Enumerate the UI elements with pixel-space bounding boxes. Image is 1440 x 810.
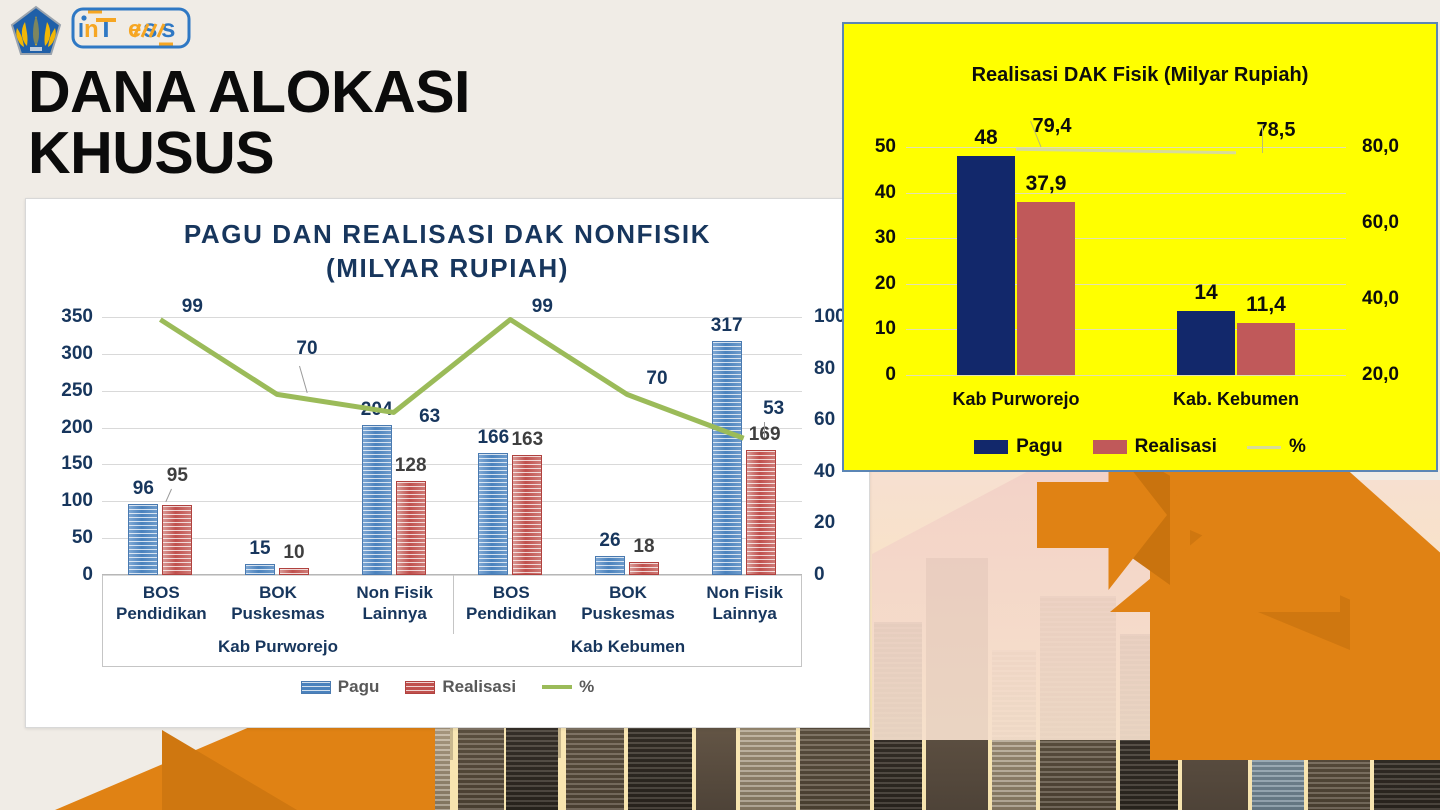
category-label-line: BOS [451,583,571,604]
percent-value-label: 99 [182,296,203,318]
slide-canvas: n e T s s DANA ALOKASI KHUSUS PAGU DAN R… [0,0,1440,810]
category-label-line: BOS [101,583,221,604]
legend-item: % [542,677,594,697]
legend-item: Pagu [301,677,380,697]
svg-text:e: e [128,16,141,43]
chart-title: PAGU DAN REALISASI DAK NONFISIK (MILYAR … [26,217,869,286]
category-label-line: Pendidikan [451,604,571,625]
legend-swatch-realisasi [1093,440,1127,454]
y-axis-tick: 50 [72,527,93,549]
leader-line [1262,125,1263,153]
legend-item: Realisasi [1093,436,1217,458]
y-axis-tick: 350 [61,306,93,328]
yellow-chart-title: Realisasi DAK Fisik (Milyar Rupiah) [844,64,1436,87]
y2-axis-tick: 100 [814,306,846,328]
category-label: Kab. Kebumen [1173,389,1299,410]
category-label-line: BOK [568,583,688,604]
y-axis-tick: 0 [885,364,896,386]
y2-axis-tick: 20,0 [1362,364,1399,386]
category-label-line: Non Fisik [685,583,805,604]
legend-swatch-realisasi [405,681,435,694]
legend-label: Realisasi [1135,436,1217,458]
percent-value-label: 70 [646,368,667,390]
group-label: Kab Kebumen [571,637,685,657]
kemenkeu-emblem-icon [8,4,64,60]
svg-text:T: T [98,13,114,43]
percent-value-label: 70 [296,338,317,360]
dak-nonfisik-chart-card: PAGU DAN REALISASI DAK NONFISIK (MILYAR … [25,198,870,728]
y-axis-tick: 0 [82,564,93,586]
category-label-line: Puskesmas [218,604,338,625]
y-axis-tick: 100 [61,490,93,512]
legend-label: Pagu [338,677,380,697]
y-axis-tick: 30 [875,227,896,249]
legend-swatch-pagu [974,440,1008,454]
percent-value-label: 63 [419,406,440,428]
y-axis-tick: 200 [61,417,93,439]
legend-label: % [579,677,594,697]
y2-axis-tick: 80 [814,358,835,380]
legend-item: Realisasi [405,677,516,697]
y-axis-tick: 10 [875,318,896,340]
chart-title-line1: PAGU DAN REALISASI DAK NONFISIK [26,217,869,251]
category-label: BOKPuskesmas [218,583,338,624]
percent-value-label: 99 [532,296,553,318]
intress-logo: n e T s s [70,6,192,50]
gridline [906,375,1346,376]
group-label: Kab Purworejo [218,637,338,657]
category-label: BOSPendidikan [451,583,571,624]
category-label-line: Non Fisik [335,583,455,604]
plot-area: 0501001502002503003500204060801009695151… [102,317,802,575]
percent-value-label: 79,4 [1033,115,1072,138]
y-axis-tick: 50 [875,136,896,158]
category-label: Kab Purworejo [952,389,1079,410]
y2-axis-tick: 60,0 [1362,212,1399,234]
leader-line [764,422,765,438]
percent-line-series [906,147,1346,375]
legend-label: Pagu [1016,436,1062,458]
y2-axis-tick: 0 [814,564,825,586]
y2-axis-tick: 80,0 [1362,136,1399,158]
legend-swatch-pagu [301,681,331,694]
dak-fisik-chart-card: Realisasi DAK Fisik (Milyar Rupiah) 0102… [842,22,1438,472]
category-label-line: Pendidikan [101,604,221,625]
page-title: DANA ALOKASI KHUSUS [28,62,728,184]
y-axis-tick: 40 [875,182,896,204]
category-label-line: BOK [218,583,338,604]
category-label: BOKPuskesmas [568,583,688,624]
percent-line-series [102,317,802,575]
chart-title-line2: (MILYAR RUPIAH) [26,251,869,285]
legend-line-percent [542,685,572,689]
legend-item: Pagu [974,436,1062,458]
y2-axis-tick: 40,0 [1362,288,1399,310]
y-axis-tick: 250 [61,380,93,402]
category-label-line: Lainnya [685,604,805,625]
yellow-chart-legend: PaguRealisasi% [844,436,1436,458]
category-band: BOSPendidikanBOKPuskesmasNon FisikLainny… [102,575,802,667]
yellow-plot-area: 0102030405020,040,060,080,04837,9Kab Pur… [906,147,1346,375]
y-axis-tick: 150 [61,453,93,475]
category-label: BOSPendidikan [101,583,221,624]
legend-line-percent [1247,446,1281,449]
category-label-line: Lainnya [335,604,455,625]
category-label-line: Puskesmas [568,604,688,625]
percent-value-label: 53 [763,398,784,420]
y-axis-tick: 20 [875,273,896,295]
y2-axis-tick: 40 [814,461,835,483]
legend-label: % [1289,436,1306,458]
legend-item: % [1247,436,1306,458]
y2-axis-tick: 20 [814,512,835,534]
legend-label: Realisasi [442,677,516,697]
category-label: Non FisikLainnya [685,583,805,624]
chart-legend: PaguRealisasi% [26,677,869,697]
category-label: Non FisikLainnya [335,583,455,624]
y2-axis-tick: 60 [814,409,835,431]
y-axis-tick: 300 [61,343,93,365]
